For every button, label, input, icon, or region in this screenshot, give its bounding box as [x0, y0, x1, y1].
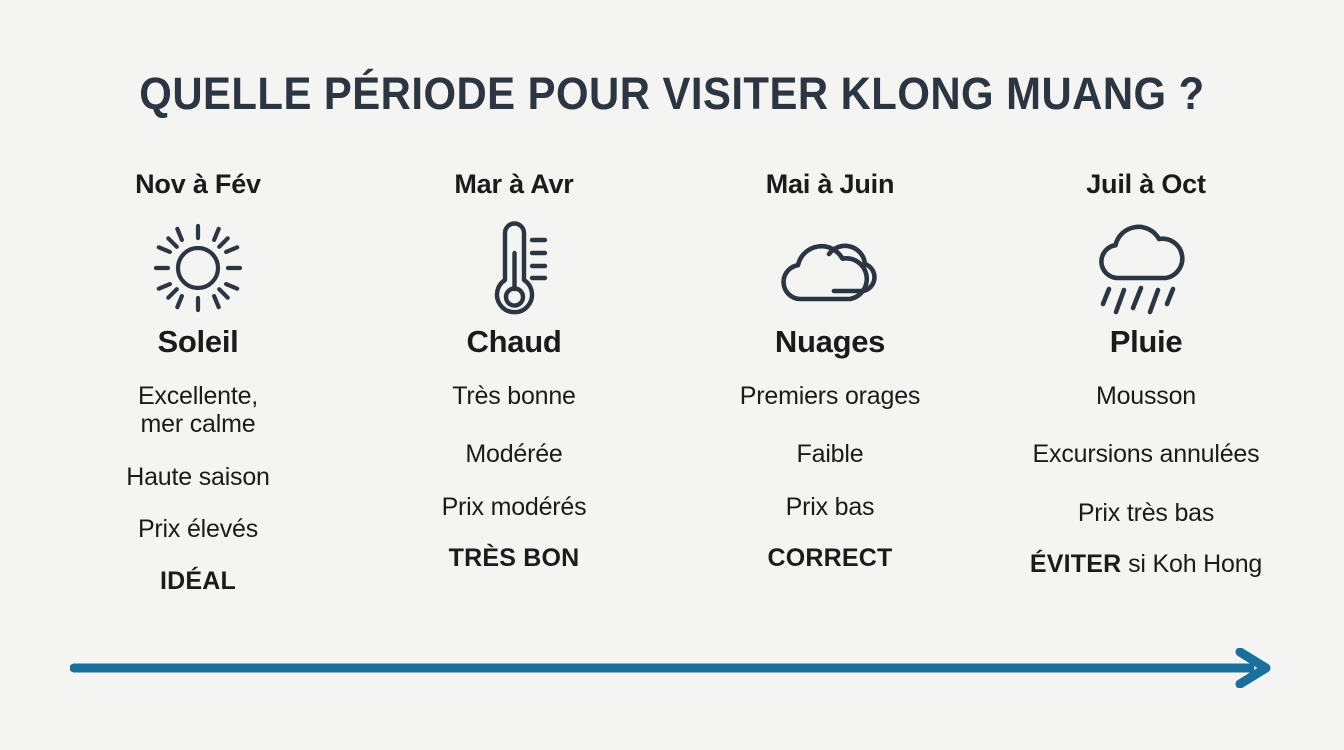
- season-condition-label: Nuages: [775, 324, 885, 360]
- season-detail-price: Prix modérés: [442, 493, 587, 522]
- season-verdict: ÉVITER si Koh Hong: [1030, 550, 1262, 579]
- season-period-label: Mai à Juin: [766, 170, 895, 200]
- season-detail-sea: Excellente,: [138, 382, 258, 411]
- season-verdict-main: IDÉAL: [160, 567, 236, 595]
- season-detail-sea: Mousson: [1096, 382, 1196, 411]
- season-column-mar-avr: Mar à Avr Chaud Très bonne Modérée Prix …: [356, 170, 672, 573]
- season-period-label: Juil à Oct: [1086, 170, 1206, 200]
- season-column-juil-oct: Juil à Oct Pluie Mousson Excursions annu…: [988, 170, 1304, 579]
- season-detail-crowd: Excursions annulées: [1033, 440, 1260, 469]
- season-period-label: Mar à Avr: [454, 170, 573, 200]
- season-verdict: IDÉAL: [160, 567, 236, 596]
- season-verdict-main: TRÈS BON: [449, 544, 580, 572]
- season-verdict: CORRECT: [767, 544, 892, 573]
- season-column-nov-fev: Nov à Fév: [40, 170, 356, 596]
- rain-cloud-icon: [1091, 216, 1201, 320]
- season-detail-crowd: Faible: [797, 440, 864, 469]
- season-detail-sea: Très bonne: [452, 382, 576, 411]
- season-details: Très bonne Modérée Prix modérés TRÈS BON: [356, 382, 672, 574]
- clouds-icon: [772, 216, 888, 320]
- season-columns: Nov à Fév: [40, 170, 1304, 596]
- season-detail-crowd: Haute saison: [126, 463, 270, 492]
- right-arrow-icon: [70, 648, 1272, 688]
- season-detail-price: Prix élevés: [138, 515, 258, 544]
- season-verdict-main: CORRECT: [767, 544, 892, 572]
- season-condition-label: Chaud: [467, 324, 562, 360]
- season-period-label: Nov à Fév: [135, 170, 261, 200]
- sun-icon: [148, 216, 248, 320]
- season-condition-label: Soleil: [158, 324, 239, 360]
- season-detail-price: Prix très bas: [1078, 499, 1214, 528]
- season-details: Premiers orages Faible Prix bas CORRECT: [672, 382, 988, 574]
- season-verdict-suffix: si Koh Hong: [1121, 550, 1262, 578]
- season-condition-label: Pluie: [1110, 324, 1183, 360]
- season-detail-sea-line2: mer calme: [141, 410, 256, 439]
- infographic-poster: QUELLE PÉRIODE POUR VISITER KLONG MUANG …: [0, 0, 1344, 750]
- season-verdict: TRÈS BON: [449, 544, 580, 573]
- page-title: QUELLE PÉRIODE POUR VISITER KLONG MUANG …: [47, 68, 1297, 120]
- season-detail-sea: Premiers orages: [740, 382, 920, 411]
- thermometer-icon: [475, 216, 553, 320]
- season-details: Mousson Excursions annulées Prix très ba…: [988, 382, 1304, 580]
- season-column-mai-juin: Mai à Juin Nuages Premiers orages Faible…: [672, 170, 988, 573]
- season-details: Excellente, mer calme Haute saison Prix …: [40, 382, 356, 596]
- season-detail-crowd: Modérée: [465, 440, 562, 469]
- season-detail-price: Prix bas: [786, 493, 875, 522]
- season-verdict-main: ÉVITER: [1030, 550, 1122, 578]
